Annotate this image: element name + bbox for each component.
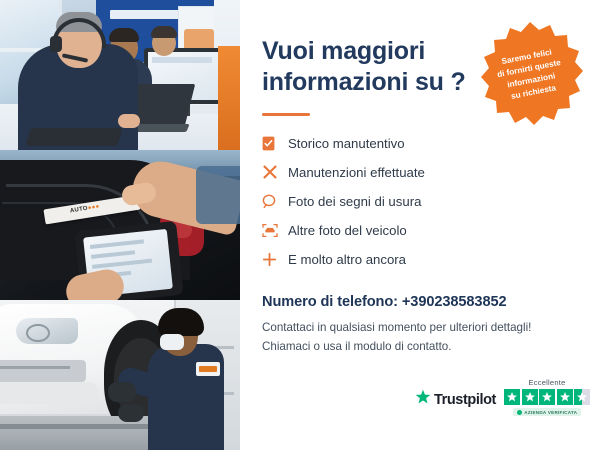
trustpilot-logo: Trustpilot (415, 378, 496, 410)
list-item: Foto dei segni di usura (262, 188, 600, 214)
car-scan-icon (262, 223, 288, 238)
callout-badge: Saremo felici di fornirti queste informa… (476, 20, 584, 128)
list-item: Manutenzioni effettuate (262, 159, 600, 185)
photo-mechanic-inspecting-white-car-on-lift (0, 300, 240, 450)
trustpilot-rating: Eccellente AZIENDA VERIFICATA (504, 378, 590, 416)
verified-check-icon (517, 410, 522, 415)
plus-icon (262, 252, 288, 267)
list-item: E molto altro ancora (262, 246, 600, 272)
list-item: Storico manutentivo (262, 130, 600, 156)
photo-column: AUTO●●● (0, 0, 240, 450)
title-underline-rule (262, 113, 310, 116)
list-item-label: E molto altro ancora (288, 252, 406, 267)
trustpilot-widget[interactable]: Trustpilot Eccellente AZIENDA VERIFICATA (415, 378, 590, 416)
trustpilot-stars (504, 389, 590, 405)
star-icon (504, 389, 520, 405)
mechanic-glove-lower (118, 404, 144, 422)
star-icon (557, 389, 573, 405)
photo-technician-measuring-car-body-with-tablet: AUTO●●● (0, 150, 240, 300)
verified-business-badge: AZIENDA VERIFICATA (513, 408, 581, 416)
second-colleague-hair (151, 26, 177, 38)
list-item: Altre foto del veicolo (262, 217, 600, 243)
contact-subtext-line-2: Chiamaci o usa il modulo di contatto. (262, 338, 600, 357)
magnifier-icon (262, 194, 288, 209)
orange-panel (218, 46, 240, 150)
car-headlight (16, 318, 78, 344)
mechanic-hair (158, 308, 204, 336)
list-item-label: Manutenzioni effettuate (288, 165, 425, 180)
page-title-line-2: informazioni su ? (262, 68, 466, 96)
phone-number-label[interactable]: Numero di telefono: +390238583852 (262, 294, 600, 310)
car-bumper (0, 382, 98, 404)
promo-card: AUTO●●● (0, 0, 600, 450)
agent-hand (118, 114, 140, 128)
desk-tablet (25, 128, 122, 146)
list-item-label: Altre foto del veicolo (288, 223, 407, 238)
star-icon (522, 389, 538, 405)
colleague-hair (109, 28, 139, 42)
uniform-logo-patch (196, 362, 220, 376)
document-check-icon (262, 136, 288, 151)
verified-business-label: AZIENDA VERIFICATA (524, 410, 577, 415)
trustpilot-rating-label: Eccellente (528, 378, 565, 387)
contact-subtext: Contattaci in qualsiasi momento per ulte… (262, 319, 600, 357)
tools-cross-icon (262, 164, 288, 180)
star-icon (539, 389, 555, 405)
headset-earcup (50, 36, 62, 52)
photo-call-center-agent-with-headset (0, 0, 240, 150)
list-item-label: Storico manutentivo (288, 136, 405, 151)
background-blue-shape (196, 166, 240, 224)
content-panel: Vuoi maggiori informazioni su ? Saremo f… (240, 0, 600, 450)
list-item-label: Foto dei segni di usura (288, 194, 421, 209)
page-title-line-1: Vuoi maggiori (262, 37, 425, 65)
trustpilot-wordmark: Trustpilot (434, 392, 496, 408)
contact-subtext-line-1: Contattaci in qualsiasi momento per ulte… (262, 319, 600, 338)
callout-badge-content: Saremo felici di fornirti queste informa… (467, 11, 594, 138)
star-icon-half (574, 389, 590, 405)
trustpilot-star-icon (415, 389, 431, 410)
mechanic-glove-upper (108, 382, 136, 402)
mechanic-face-mask (160, 334, 184, 350)
car-grille (0, 360, 86, 382)
feature-list: Storico manutentivo Manutenzioni effettu… (262, 130, 600, 272)
